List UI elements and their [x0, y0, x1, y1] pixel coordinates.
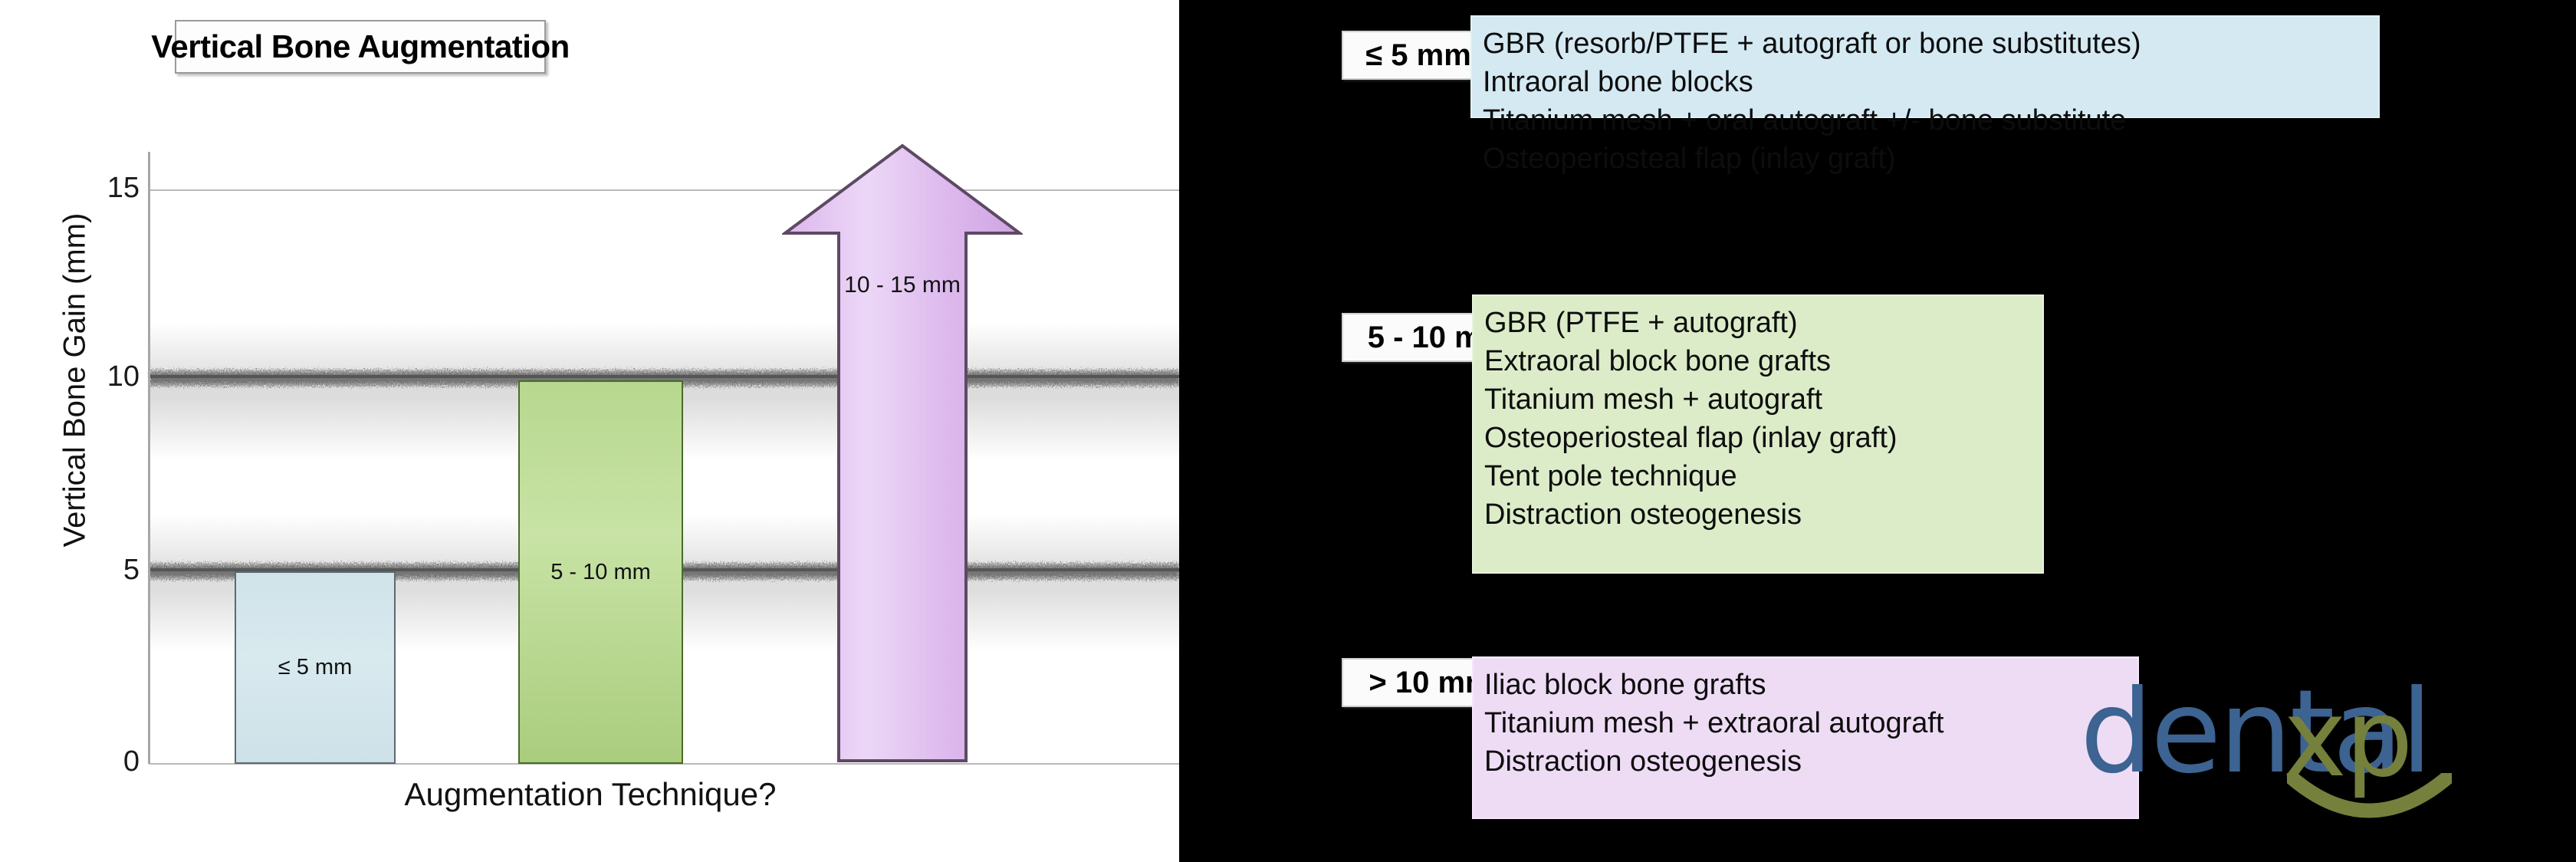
bar-5-10mm[interactable]: 5 - 10 mm: [518, 380, 683, 764]
technique-box-5-10mm: GBR (PTFE + autograft) Extraoral block b…: [1472, 294, 2044, 574]
technique-item: GBR (PTFE + autograft): [1484, 304, 2032, 342]
technique-item: Iliac block bone grafts: [1484, 666, 2127, 704]
technique-item: Distraction osteogenesis: [1484, 495, 2032, 534]
technique-item: Osteoperiosteal flap (inlay graft): [1484, 419, 2032, 457]
y-tick-0: 0: [74, 745, 140, 778]
gridline-15: [149, 189, 1179, 191]
technique-item: Titanium mesh + extraoral autograft: [1484, 704, 2127, 742]
technique-item: Distraction osteogenesis: [1484, 742, 2127, 781]
dentalxp-watermark: dental xp: [2080, 675, 2555, 828]
technique-box-gt-10mm: Iliac block bone grafts Titanium mesh + …: [1472, 656, 2139, 819]
technique-item: Osteoperiosteal flap (inlay graft): [1483, 140, 2367, 178]
technique-item: Titanium mesh + oral autograft +/- bone …: [1483, 101, 2367, 140]
technique-item: Titanium mesh + autograft: [1484, 380, 2032, 419]
chart-panel: Vertical Bone Augmentation: [0, 0, 1179, 862]
technique-item: Extraoral block bone grafts: [1484, 342, 2032, 380]
technique-item: GBR (resorb/PTFE + autograft or bone sub…: [1483, 25, 2367, 63]
bar-le-5mm[interactable]: ≤ 5 mm: [235, 571, 396, 764]
technique-item: Tent pole technique: [1484, 457, 2032, 495]
y-axis-title: Vertical Bone Gain (mm): [58, 189, 93, 572]
technique-list-panel: ≤ 5 mm GBR (resorb/PTFE + autograft or b…: [1179, 0, 2576, 862]
technique-box-le-5mm: GBR (resorb/PTFE + autograft or bone sub…: [1470, 15, 2380, 118]
bar-label-10-15mm: 10 - 15 mm: [797, 272, 1007, 298]
bar-chart-plot: 15 10 5 0 Vertical Bone Gain (mm) ≤ 5 mm…: [0, 0, 1179, 862]
y-axis-line: [148, 152, 150, 764]
bar-arrow-10-15mm[interactable]: [782, 143, 1023, 764]
technique-item: Intraoral bone blocks: [1483, 63, 2367, 101]
bar-label-5-10mm: 5 - 10 mm: [550, 560, 651, 585]
bar-label-le-5mm: ≤ 5 mm: [278, 655, 352, 680]
x-axis-title: Augmentation Technique?: [149, 776, 1031, 813]
smile-icon: [2287, 773, 2452, 827]
